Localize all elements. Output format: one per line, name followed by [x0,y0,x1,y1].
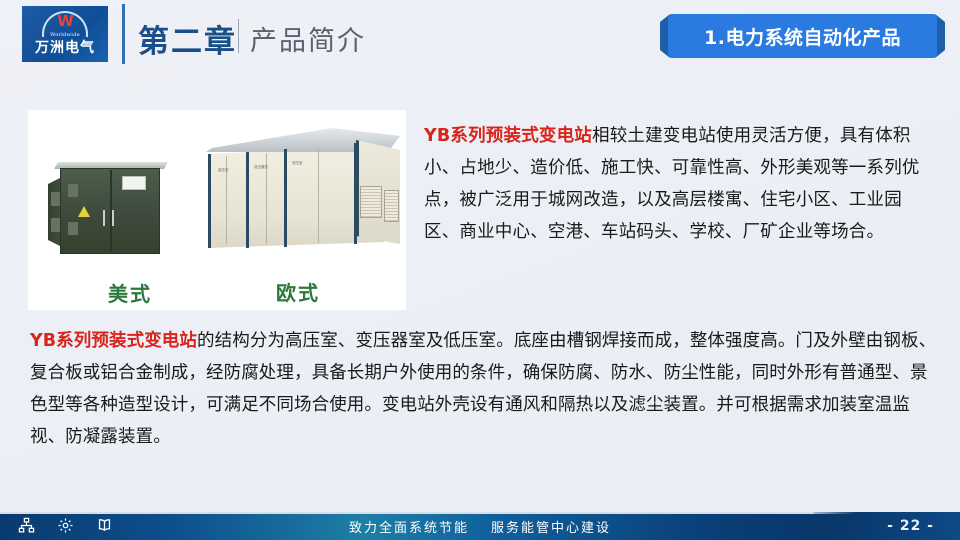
page-footer: 致力全面系统节能 服务能管中心建设 - 22 - [0,512,960,540]
eu-ventilation-grille-1 [360,186,382,218]
eu-post-2 [246,152,249,248]
chapter-title: 第二章 [138,16,237,61]
paragraph-bottom-highlight: YB系列预装式变电站 [30,331,197,351]
company-logo: W Worldwide 万洲电气 [22,6,108,62]
footer-slogan-left: 致力全面系统节能 [349,517,469,536]
footer-page-backdrop [800,512,960,540]
banner-body: 1.电力系统自动化产品 [668,14,937,58]
us-nameplate [122,176,146,190]
caption-american-style: 美式 [108,278,152,307]
american-style-substation-image [48,162,170,262]
eu-panel-label-1: 高压室 [218,168,229,173]
section-title: 产品简介 [250,19,366,58]
us-louver-1 [51,192,60,206]
eu-panel-label-3: 低压室 [292,161,303,166]
us-door-handle-right [112,210,114,226]
logo-w-mark: W [42,14,88,29]
eu-door-line-3 [318,148,319,243]
us-vent-2 [68,222,78,235]
eu-panel-label-2: 变压器室 [254,165,268,170]
eu-post-3 [284,149,287,247]
logo-divider [122,4,125,64]
section-banner: 1.电力系统自动化产品 [660,14,945,58]
us-warning-triangle-icon [78,206,90,217]
us-door-handle-left [103,210,105,226]
eu-ventilation-grille-2 [384,190,399,222]
us-louver-2 [51,218,60,232]
page-header: W Worldwide 万洲电气 第二章 产品简介 1.电力系统自动化产品 [0,0,960,78]
paragraph-bottom: YB系列预装式变电站的结构分为高压室、变压器室及低压室。底座由槽钢焊接而成，整体… [30,325,940,453]
caption-european-style: 欧式 [276,277,320,306]
eu-post-1 [208,154,211,248]
us-vent-1 [68,184,78,197]
product-photo: 高压室 变压器室 低压室 美式 欧式 [28,110,406,310]
paragraph-right: YB系列预装式变电站相较土建变电站使用灵活方便，具有体积小、占地少、造价低、施工… [424,120,934,248]
logo-cn-name: 万洲电气 [35,40,95,56]
eu-post-4 [354,143,357,244]
paragraph-right-highlight: YB系列预装式变电站 [424,126,592,146]
footer-slogan-right: 服务能管中心建设 [491,517,611,536]
page-number: - 22 - [887,512,934,540]
logo-arch-icon: W [42,11,88,30]
european-style-substation-image: 高压室 变压器室 低压室 [206,128,400,268]
banner-label: 1.电力系统自动化产品 [704,23,901,50]
title-separator [238,19,239,53]
